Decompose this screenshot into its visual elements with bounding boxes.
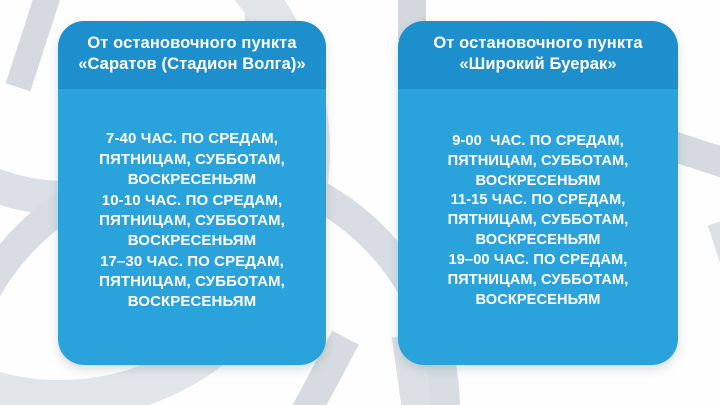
schedule-infographic: От остановочного пункта «Саратов (Стадио… [0, 0, 720, 405]
schedule-card-shirokiy-buerak: От остановочного пункта «Широкий Буерак»… [398, 21, 678, 365]
card-header-shirokiy-buerak: От остановочного пункта «Широкий Буерак» [398, 21, 678, 89]
card-header-saratov-stadion-volga: От остановочного пункта «Саратов (Стадио… [58, 21, 326, 89]
departure-entry: 9-00 ЧАС. ПО СРЕДАМ, ПЯТНИЦАМ, СУББОТАМ,… [448, 132, 629, 192]
card-body-saratov-stadion-volga: 7-40 ЧАС. ПО СРЕДАМ, ПЯТНИЦАМ, СУББОТАМ,… [58, 89, 326, 365]
card-body-shirokiy-buerak: 9-00 ЧАС. ПО СРЕДАМ, ПЯТНИЦАМ, СУББОТАМ,… [398, 89, 678, 365]
departure-entry: 10-10 ЧАС. ПО СРЕДАМ, ПЯТНИЦАМ, СУББОТАМ… [99, 191, 285, 252]
departure-entry: 11-15 ЧАС. ПО СРЕДАМ, ПЯТНИЦАМ, СУББОТАМ… [448, 191, 629, 251]
departure-entry: 7-40 ЧАС. ПО СРЕДАМ, ПЯТНИЦАМ, СУББОТАМ,… [99, 129, 285, 190]
departure-entry: 19–00 ЧАС. ПО СРЕДАМ, ПЯТНИЦАМ, СУББОТАМ… [448, 251, 629, 311]
schedule-card-saratov-stadion-volga: От остановочного пункта «Саратов (Стадио… [58, 21, 326, 365]
card-header-line-2: «Саратов (Стадион Волга)» [72, 54, 312, 75]
departure-entry: 17–30 ЧАС. ПО СРЕДАМ, ПЯТНИЦАМ, СУББОТАМ… [99, 252, 285, 313]
card-header-line-1: От остановочного пункта [72, 33, 312, 54]
card-header-line-2: «Широкий Буерак» [412, 54, 664, 75]
card-header-line-1: От остановочного пункта [412, 33, 664, 54]
